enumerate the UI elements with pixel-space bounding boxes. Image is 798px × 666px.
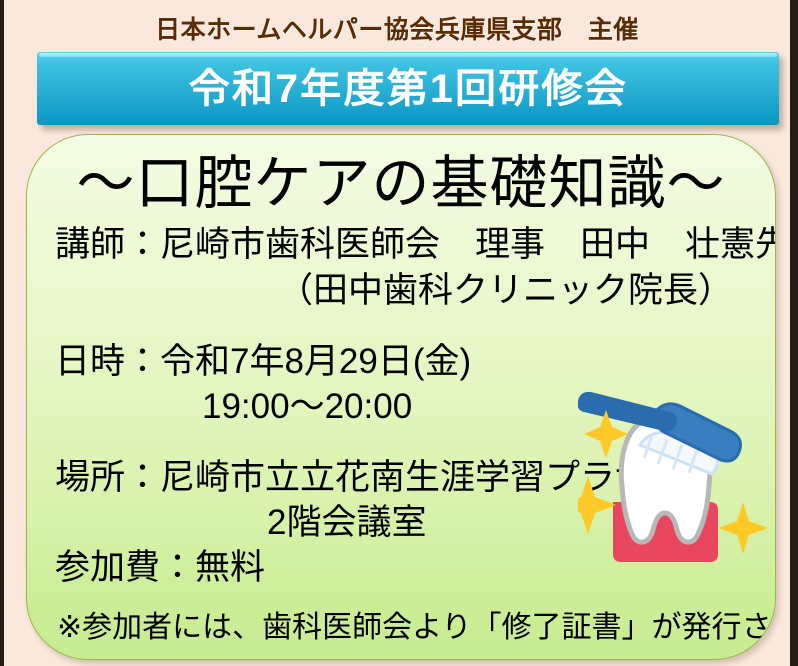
certificate-note-line: ※参加者には、歯科医師会より「修了証書」が発行されます — [57, 613, 776, 643]
venue-name-line: 場所：尼崎市立立花南生涯学習プラザ — [55, 460, 650, 495]
banner-title: 令和7年度第1回研修会 — [188, 69, 627, 109]
participation-fee-line: 参加費：無料 — [55, 550, 265, 585]
lecturer-affiliation-line: （田中歯科クリニック院長） — [27, 273, 733, 308]
seminar-headline: 〜口腔ケアの基礎知識〜 — [27, 155, 775, 213]
organizer-line: 日本ホームヘルパー協会兵庫県支部 主催 — [4, 10, 790, 46]
lecturer-name-line: 講師：尼崎市歯科医師会 理事 田中 壮憲先生 — [55, 227, 776, 262]
event-time-line: 19:00〜20:00 — [202, 389, 412, 424]
flyer-page: 日本ホームヘルパー協会兵庫県支部 主催 令和7年度第1回研修会 〜口腔ケアの基礎… — [0, 0, 798, 666]
venue-room-line: 2階会議室 — [267, 505, 426, 540]
event-banner: 令和7年度第1回研修会 — [37, 52, 779, 125]
details-panel: 〜口腔ケアの基礎知識〜 講師：尼崎市歯科医師会 理事 田中 壮憲先生 （田中歯科… — [26, 134, 776, 660]
event-date-line: 日時：令和7年8月29日(金) — [55, 344, 471, 379]
